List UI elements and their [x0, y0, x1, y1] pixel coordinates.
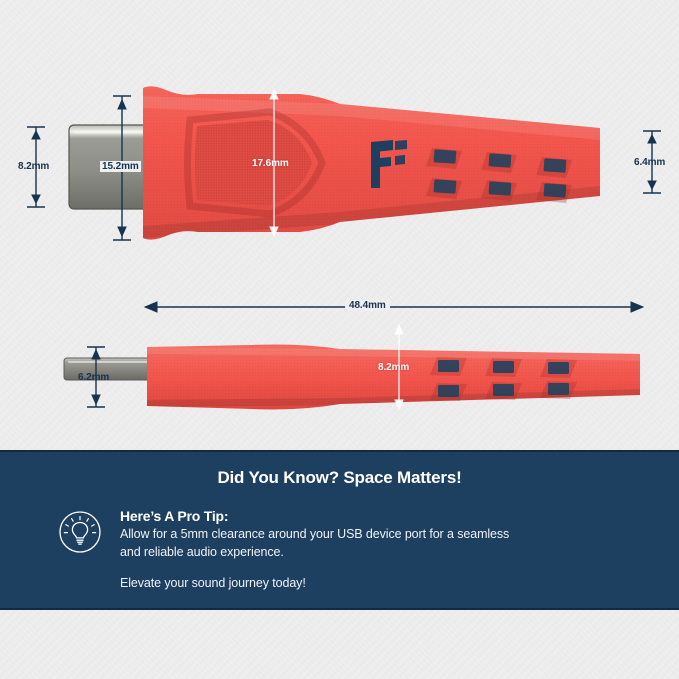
lightbulb-icon — [58, 508, 102, 559]
bottom-view-diagram: 48.4mm 6.2mm 8.2mm — [0, 285, 679, 445]
tip-heading: Here’s A Pro Tip: — [120, 508, 643, 524]
promo-body: Here’s A Pro Tip: Allow for a 5mm cleara… — [0, 488, 679, 590]
promo-title: Did You Know? Space Matters! — [0, 452, 679, 488]
connector-housing — [140, 80, 610, 250]
dimension-label-connector-height: 8.2mm — [18, 161, 49, 172]
top-view-diagram: 8.2mm 15.2mm 17.6mm 6.4mm — [0, 0, 679, 290]
dimension-label-housing-width: 8.2mm — [378, 362, 409, 373]
dimension-overall-length — [145, 302, 643, 312]
dimension-label-cable-width: 6.2mm — [78, 372, 109, 383]
bottom-view-svg — [0, 285, 679, 445]
infographic-page: 8.2mm 15.2mm 17.6mm 6.4mm — [0, 0, 679, 679]
dimension-label-housing-front-height: 15.2mm — [100, 161, 141, 172]
dimension-label-housing-tail-height: 6.4mm — [634, 157, 665, 168]
promo-text-block: Here’s A Pro Tip: Allow for a 5mm cleara… — [120, 508, 643, 590]
tip-line-1: Allow for a 5mm clearance around your US… — [120, 526, 643, 544]
dimension-label-overall-length: 48.4mm — [345, 300, 390, 311]
connector-housing-plan — [140, 340, 650, 415]
top-view-svg — [0, 0, 679, 290]
tip-line-2: and reliable audio experience. — [120, 544, 643, 562]
promo-panel: Did You Know? Space Matters! — [0, 450, 679, 610]
dimension-label-housing-max-height: 17.6mm — [252, 158, 289, 169]
promo-cta: Elevate your sound journey today! — [120, 576, 643, 590]
